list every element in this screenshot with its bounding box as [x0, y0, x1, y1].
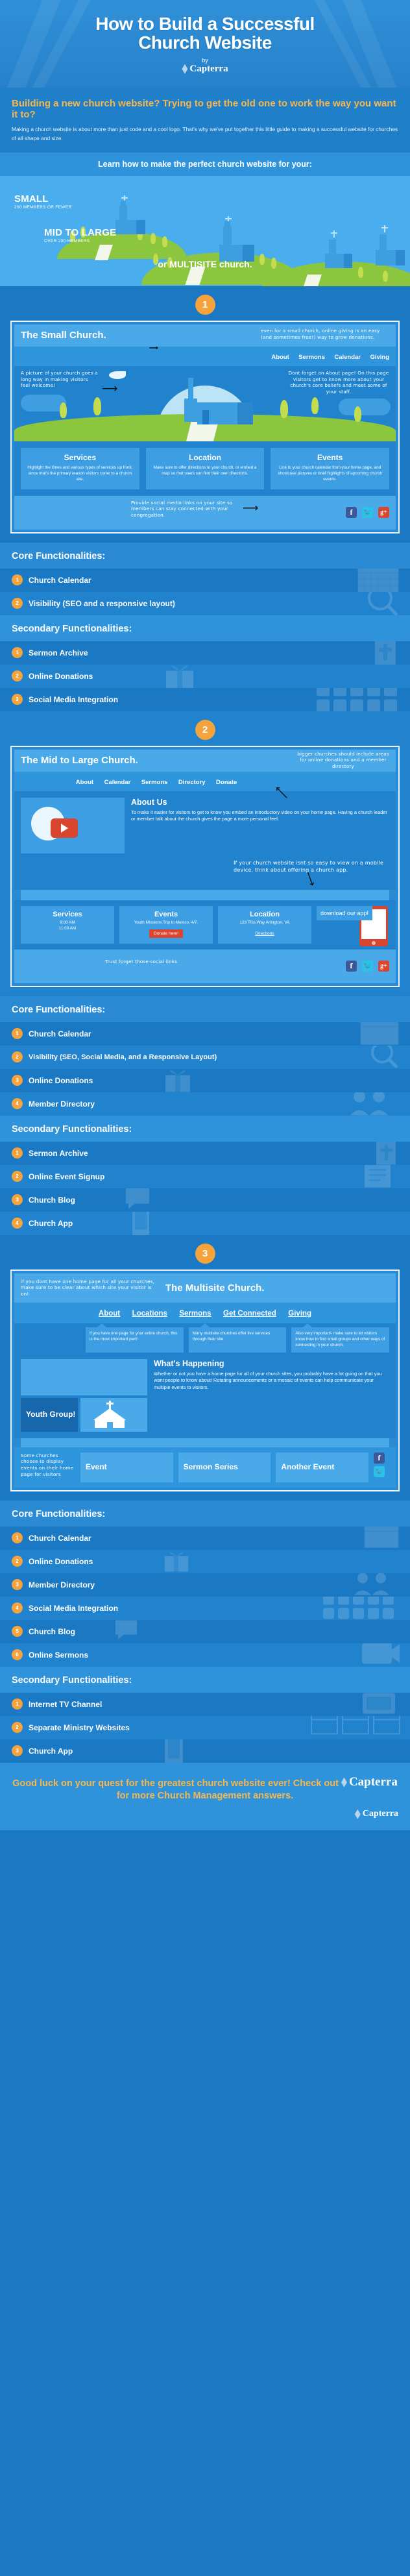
section-1-core-heading: Core Functionalities:	[0, 543, 410, 569]
event-box-1[interactable]: Event	[80, 1453, 173, 1482]
item-label: Online Donations	[29, 1076, 93, 1085]
note-social-links: Trust forget those social links	[105, 959, 248, 965]
item-label: Online Event Signup	[29, 1172, 104, 1181]
functionality-row: 2 Visibility (SEO, Social Media, and a R…	[0, 1046, 410, 1069]
item-label: Church Blog	[29, 1196, 75, 1205]
item-number: 2	[12, 1722, 23, 1733]
tree-icon	[280, 400, 288, 418]
tree-icon	[151, 233, 156, 244]
event-box-label: Event	[86, 1463, 107, 1471]
youth-group-tile: Youth Group!	[21, 1398, 78, 1432]
tree-icon	[60, 402, 67, 418]
section-1-secondary-list: 1 Sermon Archive 2 Online Donations 3 So…	[0, 641, 410, 711]
functionality-row: 6 Online Sermons	[0, 1643, 410, 1667]
calendar-icon	[363, 1527, 401, 1550]
donate-button[interactable]: Donate here!	[149, 929, 183, 938]
size-label-mid: MID TO LARGE OVER 200 MEMBERS	[44, 228, 116, 244]
nav-item-about[interactable]: About	[99, 1310, 120, 1318]
size-label-mid-sub: OVER 200 MEMBERS	[44, 239, 116, 244]
section-3-secondary-list: 1 Internet TV Channel 2 Separate Ministr…	[0, 1693, 410, 1763]
section-3-core-list: 1 Church Calendar 2 Online Donations 3 M…	[0, 1527, 410, 1667]
title-line-1: How to Build a Successful	[95, 14, 315, 34]
gift-icon	[162, 665, 197, 688]
item-number: 1	[12, 1532, 23, 1543]
diamond-icon	[182, 64, 187, 74]
footer-cta-text: Good luck on your quest for the greatest…	[12, 1774, 398, 1803]
mockup-title-bar: The Mid to Large Church. bigger churches…	[14, 750, 396, 772]
nav-item-donate[interactable]: Donate	[216, 779, 237, 786]
footer-mark-name: Capterra	[363, 1809, 398, 1819]
size-label-mid-title: MID TO LARGE	[44, 228, 116, 238]
mockup-social-footer: Provide social media links on your site …	[14, 496, 396, 530]
diamond-icon	[355, 1809, 361, 1819]
item-label: Church Calendar	[29, 576, 91, 585]
item-label: Internet TV Channel	[29, 1700, 102, 1709]
tile-title: Location	[221, 911, 308, 918]
section-1-badge: 1	[195, 295, 215, 315]
functionality-row: 1 Church Calendar	[0, 1022, 410, 1046]
item-number: 2	[12, 670, 23, 681]
media-row: Youth Group!	[21, 1398, 147, 1432]
functionality-row: 3 Online Donations	[0, 1069, 410, 1092]
calendar-icon	[359, 1022, 401, 1046]
facebook-icon[interactable]: f	[346, 961, 357, 972]
signup-icon	[362, 1165, 401, 1188]
gift-icon	[162, 1069, 195, 1092]
twitter-icon[interactable]: 🐦	[362, 507, 373, 518]
item-number: 2	[12, 1051, 23, 1062]
section-3-core-heading: Core Functionalities:	[0, 1501, 410, 1527]
mockup-title: The Multisite Church.	[165, 1282, 265, 1294]
tile-body: Link to your church calendar from your h…	[276, 465, 384, 483]
gift-icon	[162, 1550, 192, 1573]
about-us-title: About Us	[131, 798, 389, 807]
section-1-number-wrap: 1	[0, 286, 410, 321]
functionality-row: 2 Visibility (SEO and a responsive layou…	[0, 592, 410, 615]
functionality-row: 2 Separate Ministry Websites	[0, 1716, 410, 1739]
item-number: 1	[12, 1699, 23, 1710]
steeple-base-shape	[184, 399, 197, 422]
item-label: Member Directory	[29, 1099, 95, 1109]
magnifier-icon	[365, 592, 401, 615]
item-number: 2	[12, 1556, 23, 1567]
item-number: 3	[12, 1075, 23, 1086]
social-icon-column: f 🐦	[374, 1453, 389, 1482]
item-number: 1	[12, 1028, 23, 1039]
event-box-2[interactable]: Sermon Series	[178, 1453, 271, 1482]
item-label: Church Blog	[29, 1627, 75, 1636]
event-box-label: Another Event	[281, 1463, 334, 1471]
note-display-events: Some churches choose to display events o…	[21, 1453, 75, 1482]
item-number: 3	[12, 1579, 23, 1590]
item-label: Visibility (SEO, Social Media, and a Res…	[29, 1053, 217, 1061]
nav-item-directory[interactable]: Directory	[178, 779, 206, 786]
feature-tile-location: Location Make sure to offer directions t…	[146, 448, 265, 489]
tile-title: Services	[26, 453, 134, 462]
footer-logo-mark: Capterra	[12, 1809, 398, 1822]
mobile-note-zone: If your church website isnt so easy to v…	[14, 860, 396, 890]
feature-tile-location: Location 123 This Way Arlington, VA Dire…	[218, 906, 311, 944]
mockup-callouts: If you have one page for your entire chu…	[14, 1323, 396, 1353]
section-3-number-wrap: 3	[0, 1235, 410, 1270]
mockup-title-bar: if you dont have one home page for all y…	[14, 1273, 396, 1303]
size-label-small: SMALL 200 MEMBERS OR FEWER	[14, 194, 71, 210]
twitter-icon[interactable]: 🐦	[362, 961, 373, 972]
app-promo-cell: download our app!	[317, 906, 389, 944]
feature-tile-services: Services Highlight the times and various…	[21, 448, 139, 489]
item-number: 4	[12, 1218, 23, 1229]
item-number: 6	[12, 1649, 23, 1660]
item-number: 5	[12, 1626, 23, 1637]
social-grid-icon	[323, 1597, 401, 1620]
item-number: 4	[12, 1098, 23, 1109]
item-label: Online Sermons	[29, 1650, 88, 1660]
item-label: Sermon Archive	[29, 648, 88, 657]
item-number: 2	[12, 1171, 23, 1182]
cloud-shape	[339, 399, 391, 415]
item-label: Social Media Integration	[29, 695, 118, 704]
section-2-badge: 2	[195, 720, 215, 740]
mockup-about-row: ⟶ About Us To make it easier for visitor…	[14, 791, 396, 860]
functionality-row: 4 Social Media Integration	[0, 1597, 410, 1620]
section-3-badge: 3	[195, 1244, 215, 1264]
googleplus-icon[interactable]: g+	[378, 507, 389, 518]
nav-item-calendar[interactable]: Calendar	[334, 354, 361, 361]
facebook-icon[interactable]: f	[374, 1453, 385, 1464]
mockup-divider-bar	[21, 890, 389, 900]
nav-item-get-connected[interactable]: Get Connected	[223, 1310, 276, 1318]
tree-icon	[311, 397, 319, 414]
item-label: Online Donations	[29, 1557, 93, 1566]
nav-item-about[interactable]: About	[76, 779, 93, 786]
event-box-label: Sermon Series	[184, 1463, 238, 1471]
functionality-row: 3 Church Blog	[0, 1188, 410, 1212]
small-church-mockup: The Small Church. even for a small churc…	[10, 321, 400, 534]
item-label: Visibility (SEO and a responsive layout)	[29, 599, 175, 608]
section-2-core-heading: Core Functionalities:	[0, 996, 410, 1022]
section-1-secondary-heading: Secondary Functionalities:	[0, 615, 410, 641]
mockup-nav: About Locations Sermons Get Connected Gi…	[14, 1303, 396, 1323]
mockup-nav: ⟶ About Sermons Calendar Giving	[14, 347, 396, 366]
brand-name: Capterra	[189, 64, 228, 75]
mockup-feature-tiles: Services Highlight the times and various…	[14, 441, 396, 496]
note-online-giving: even for a small church, online giving i…	[261, 328, 391, 340]
mockup-title-bar: The Small Church. even for a small churc…	[14, 325, 396, 347]
functionality-row: 1 Sermon Archive	[0, 641, 410, 665]
blog-icon	[123, 1188, 152, 1212]
nav-item-about[interactable]: About	[271, 354, 289, 361]
people-icon	[349, 1092, 401, 1116]
functionality-row: 2 Online Event Signup	[0, 1165, 410, 1188]
note-picture: A picture of your church goes a long way…	[21, 370, 99, 389]
video-icon	[361, 1643, 401, 1667]
size-label-small-title: SMALL	[14, 194, 71, 204]
callout-get-connected: Also very important- make sure to let vi…	[291, 1327, 389, 1353]
functionality-row: 3 Member Directory	[0, 1573, 410, 1597]
section-2-number-wrap: 2	[0, 711, 410, 746]
title-line-2: Church Website	[138, 32, 272, 53]
callout-locations: If you have one page for your entire chu…	[86, 1327, 184, 1353]
note-social-links: Provide social media links on your site …	[131, 500, 235, 519]
section-2-secondary-list: 1 Sermon Archive 2 Online Event Signup 3…	[0, 1142, 410, 1235]
section-2-card-zone: The Mid to Large Church. bigger churches…	[0, 746, 410, 996]
church-side-shape	[237, 402, 253, 424]
tile-title: Services	[24, 911, 111, 918]
happening-body: Whether or not you have a home page for …	[154, 1371, 389, 1392]
callout-sermons: Many multisite churches offer live servi…	[189, 1327, 287, 1353]
googleplus-icon[interactable]: g+	[378, 961, 389, 972]
mockup-events-strip: Some churches choose to display events o…	[14, 1447, 396, 1488]
tile-title: Events	[276, 453, 384, 462]
multisite-church-mockup: if you dont have one home page for all y…	[10, 1270, 400, 1491]
arrow-icon: ⟶	[149, 345, 158, 352]
intro-body: Making a church website is about more th…	[12, 125, 398, 143]
item-label: Online Donations	[29, 672, 93, 681]
about-us-body: To make it easier for visitors to get to…	[131, 809, 389, 823]
functionality-row: 1 Church Calendar	[0, 569, 410, 592]
item-number: 1	[12, 1147, 23, 1159]
nav-item-calendar[interactable]: Calendar	[104, 779, 131, 786]
intro-section: Building a new church website? Trying to…	[0, 88, 410, 153]
section-3-secondary-heading: Secondary Functionalities:	[0, 1667, 410, 1693]
calendar-icon	[356, 569, 401, 592]
item-number: 3	[12, 1745, 23, 1756]
item-number: 1	[12, 574, 23, 585]
tv-icon	[361, 1693, 401, 1716]
item-label: Separate Ministry Websites	[29, 1723, 130, 1732]
diamond-icon	[341, 1778, 347, 1787]
item-number: 4	[12, 1602, 23, 1613]
people-icon	[353, 1573, 401, 1597]
bible-icon	[372, 1142, 401, 1165]
functionality-row: 2 Online Donations	[0, 1550, 410, 1573]
item-label: Church Calendar	[29, 1029, 91, 1038]
functionality-row: 4 Church App	[0, 1212, 410, 1235]
section-1-card-zone: The Small Church. even for a small churc…	[0, 321, 410, 543]
by-label: by	[13, 57, 397, 64]
mockup-nav: About Calendar Sermons Directory Donate	[14, 772, 396, 791]
capterra-logo: Capterra	[182, 64, 228, 75]
phone-icon	[162, 1739, 186, 1763]
capterra-inline-logo: Capterra	[341, 1774, 398, 1791]
play-button-icon[interactable]	[51, 818, 78, 838]
mid-large-church-mockup: The Mid to Large Church. bigger churches…	[10, 746, 400, 987]
mockup-whats-happening: Youth Group!	[14, 1353, 396, 1438]
tile-body: 123 This Way Arlington, VA	[221, 920, 308, 926]
mockup-divider-bar	[21, 1438, 389, 1447]
tile-body: Youth Missions Trip to Mexico, 4/7.	[123, 920, 210, 926]
twitter-icon[interactable]: 🐦	[374, 1466, 385, 1477]
footer-cta-part-a: Good luck on your quest for the greatest…	[12, 1778, 339, 1789]
mockup-hero-illustration: A picture of your church goes a long way…	[14, 366, 396, 441]
nav-item-locations[interactable]: Locations	[132, 1310, 167, 1318]
item-label: Social Media Integration	[29, 1604, 118, 1613]
item-number: 2	[12, 598, 23, 609]
note-bigger-churches: bigger churches should include areas for…	[295, 751, 392, 770]
functionality-row: 1 Sermon Archive	[0, 1142, 410, 1165]
magnifier-icon	[368, 1046, 401, 1069]
church-sizes-scene: SMALL 200 MEMBERS OR FEWER MID TO LARGE …	[0, 176, 410, 286]
blog-icon	[114, 1620, 139, 1643]
section-1-core-list: 1 Church Calendar 2 Visibility (SEO and …	[0, 569, 410, 615]
happening-media-block: Youth Group!	[21, 1359, 147, 1432]
functionality-row: 2 Online Donations	[0, 665, 410, 688]
item-label: Member Directory	[29, 1580, 95, 1589]
item-number: 3	[12, 694, 23, 705]
intro-headline: Building a new church website? Trying to…	[12, 98, 398, 121]
about-us-block: About Us To make it easier for visitors …	[131, 798, 389, 853]
section-2-core-list: 1 Church Calendar 2 Visibility (SEO, Soc…	[0, 1022, 410, 1116]
bible-icon	[370, 641, 401, 665]
event-box-3[interactable]: Another Event	[276, 1453, 368, 1482]
tile-title: Location	[151, 453, 259, 462]
functionality-row: 4 Member Directory	[0, 1092, 410, 1116]
nav-item-giving[interactable]: Giving	[288, 1310, 311, 1318]
arrow-icon: ⟶	[243, 502, 258, 513]
tile-body: Highlight the times and various types of…	[26, 465, 134, 483]
functionality-row: 1 Internet TV Channel	[0, 1693, 410, 1716]
mockup-feature-tiles: Services 9:00 AM 11:00 AM Events Youth M…	[14, 900, 396, 950]
tile-body: Make sure to offer directions to your ch…	[151, 465, 259, 477]
note-home-page: if you dont have one home page for all y…	[21, 1279, 160, 1297]
tree-icon	[354, 406, 361, 422]
item-label: Church App	[29, 1747, 73, 1756]
functionality-row: 3 Social Media Integration	[0, 688, 410, 711]
footer-brand-name: Capterra	[349, 1774, 398, 1791]
item-number: 1	[12, 647, 23, 658]
capterra-logo: Capterra	[355, 1809, 398, 1819]
directions-link[interactable]: Directions	[255, 931, 274, 936]
section-3-card-zone: if you dont have one home page for all y…	[0, 1270, 410, 1501]
functionality-row: 3 Church App	[0, 1739, 410, 1763]
social-grid-icon	[317, 688, 401, 711]
nav-item-giving[interactable]: Giving	[370, 354, 389, 361]
windows-icon	[310, 1716, 401, 1739]
hero-banner: How to Build a Successful Church Website…	[0, 0, 410, 88]
item-label: Sermon Archive	[29, 1149, 88, 1158]
note-about-page: Dont forget an About page! On this page …	[287, 370, 391, 395]
section-2-secondary-heading: Secondary Functionalities:	[0, 1116, 410, 1142]
happening-title: What's Happening	[154, 1359, 389, 1368]
feature-tile-events: Events Youth Missions Trip to Mexico, 4/…	[119, 906, 213, 944]
tile-title: Events	[123, 911, 210, 918]
tree-icon	[93, 397, 101, 415]
functionality-row: 5 Church Blog	[0, 1620, 410, 1643]
item-label: Church App	[29, 1219, 73, 1228]
tile-body: 9:00 AM 11:00 AM	[24, 920, 111, 932]
footer-cta: Good luck on your quest for the greatest…	[0, 1763, 410, 1830]
phone-home-button	[372, 941, 376, 945]
footer-cta-part-b: for more Church Management answers.	[117, 1791, 293, 1801]
functionality-row: 1 Church Calendar	[0, 1527, 410, 1550]
nav-item-sermons[interactable]: Sermons	[298, 354, 325, 361]
feature-tile-services: Services 9:00 AM 11:00 AM	[21, 906, 114, 944]
learn-banner: Learn how to make the perfect church web…	[0, 153, 410, 176]
nav-item-sermons[interactable]: Sermons	[179, 1310, 211, 1318]
nav-item-sermons[interactable]: Sermons	[141, 779, 168, 786]
church-door-shape	[202, 410, 209, 424]
item-number: 3	[12, 1194, 23, 1205]
infographic-page: How to Build a Successful Church Website…	[0, 0, 410, 1830]
dove-icon	[109, 371, 126, 379]
church-photo-tile	[80, 1398, 147, 1432]
intro-video-thumbnail[interactable]	[21, 798, 125, 853]
feature-tile-events: Events Link to your church calendar from…	[271, 448, 389, 489]
arrow-icon: ⟶	[102, 383, 117, 394]
page-title: How to Build a Successful Church Website	[13, 14, 397, 53]
facebook-icon[interactable]: f	[346, 507, 357, 518]
size-label-multisite: or MULTISITE church.	[0, 259, 410, 269]
media-placeholder	[21, 1359, 147, 1395]
mockup-social-footer: Trust forget those social links f 🐦 g+	[14, 950, 396, 983]
tree-icon	[162, 236, 167, 247]
phone-icon	[130, 1212, 152, 1235]
happening-text-block: What's Happening Whether or not you have…	[154, 1359, 389, 1432]
size-label-small-sub: 200 MEMBERS OR FEWER	[14, 205, 71, 210]
youth-group-label: Youth Group!	[26, 1410, 75, 1419]
download-app-label[interactable]: download our app!	[317, 906, 372, 920]
item-label: Church Calendar	[29, 1534, 91, 1543]
tree-icon	[383, 271, 388, 282]
